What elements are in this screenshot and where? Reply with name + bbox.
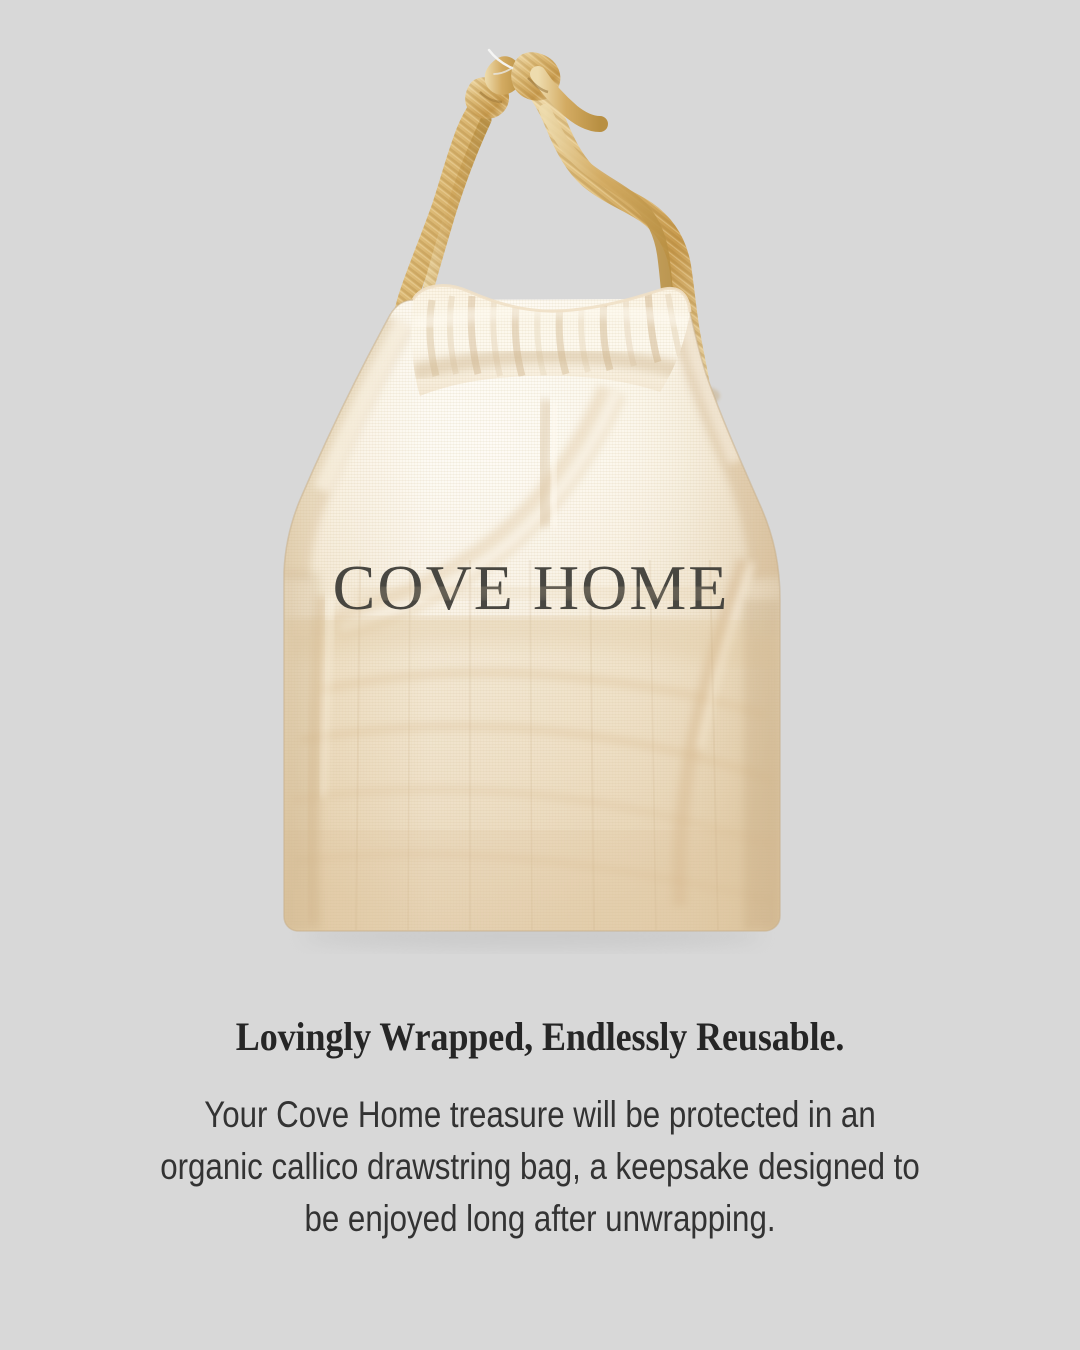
page-title: Lovingly Wrapped, Endlessly Reusable. bbox=[236, 975, 844, 1058]
caption-block: Lovingly Wrapped, Endlessly Reusable. Yo… bbox=[0, 975, 1080, 1350]
body-copy: Your Cove Home treasure will be protecte… bbox=[118, 1058, 963, 1245]
product-photo: COVE HOME bbox=[0, 0, 1080, 975]
marketing-card: COVE HOME Lovingly Wrapped, Endlessly Re… bbox=[0, 0, 1080, 1350]
